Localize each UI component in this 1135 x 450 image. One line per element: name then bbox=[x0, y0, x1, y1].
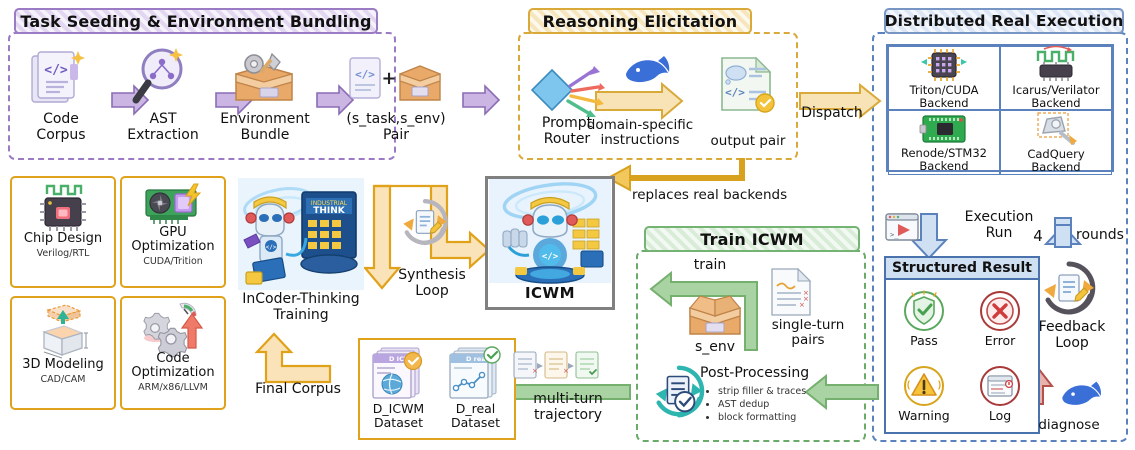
banner-reasoning: Reasoning Elicitation bbox=[528, 8, 752, 34]
domain-title-2: 3D Modeling bbox=[22, 358, 104, 372]
backend-cell-triton-cuda[interactable]: Triton/CUDA Backend bbox=[888, 46, 1000, 110]
icwm-label: ICWM bbox=[525, 284, 575, 302]
thought-code-document-icon: </> bbox=[716, 54, 778, 116]
final-corpus-arrow bbox=[257, 334, 330, 382]
seeding-step-1-label: AST Extraction bbox=[118, 112, 208, 143]
svg-text:×: × bbox=[799, 301, 805, 309]
backend-label-3: CadQuery Backend bbox=[1027, 148, 1084, 173]
synthesis-loop-label: Synthesis Loop bbox=[388, 268, 476, 299]
svg-text:</>: </> bbox=[355, 68, 375, 81]
waveform-chip-icon bbox=[1030, 47, 1082, 83]
domain-subtitle-2: CAD/CAM bbox=[41, 374, 86, 385]
backend-label-0: Triton/CUDA Backend bbox=[910, 84, 979, 109]
seeding-step-2-label: Environment Bundle bbox=[214, 112, 316, 143]
circle-cross-icon bbox=[977, 288, 1023, 332]
dataset-globe-icon: D ICWM bbox=[369, 344, 429, 400]
final-corpus-label: Final Corpus bbox=[246, 382, 350, 398]
backend-cell-icarus-verilator[interactable]: Icarus/Verilator Backend bbox=[1000, 46, 1112, 110]
result-item-pass[interactable]: Pass bbox=[886, 280, 962, 355]
backend-cell-cadquery[interactable]: CadQuery Backend bbox=[1000, 110, 1112, 174]
s-env-label: s_env bbox=[676, 340, 754, 356]
backend-label-1: Icarus/Verilator Backend bbox=[1012, 84, 1099, 109]
domain-card-code-optimization[interactable]: Code Optimization ARM/x86/LLVM bbox=[120, 296, 226, 410]
shield-check-icon bbox=[901, 288, 947, 332]
log-window-icon bbox=[977, 363, 1023, 407]
dispatch-label: Dispatch bbox=[800, 106, 864, 122]
replaces-backends-arrow bbox=[630, 158, 742, 178]
cube-extrude-icon bbox=[32, 302, 94, 358]
incoder-training-label: InCoder-Thinking Training bbox=[226, 292, 376, 323]
output-pair-label: output pair bbox=[700, 134, 796, 149]
dataset-title-1: D_real Dataset bbox=[451, 402, 500, 430]
svg-text:</>: </> bbox=[266, 244, 277, 251]
seeding-step-3-label: (s_task,s_env) Pair bbox=[336, 112, 456, 143]
svg-text:+: + bbox=[381, 68, 396, 89]
feedback-loop-label: Feedback Loop bbox=[1032, 320, 1112, 351]
robot-world-model-icon: </> bbox=[489, 179, 611, 283]
svg-text:THINK: THINK bbox=[313, 206, 346, 216]
result-label-warning: Warning bbox=[898, 408, 949, 423]
domain-subtitle-1: CUDA/Trition bbox=[143, 256, 203, 267]
dev-board-icon bbox=[919, 112, 969, 146]
dataset-chart-icon: D real bbox=[446, 344, 506, 400]
magnifier-graph-icon bbox=[128, 46, 194, 108]
post-bullet-0: strip filler & traces bbox=[718, 386, 848, 399]
chip-waveform-icon bbox=[35, 182, 91, 232]
code-file-plus-box-icon: </> + bbox=[348, 54, 444, 108]
gears-speed-icon bbox=[142, 302, 204, 352]
banner-train-icwm: Train ICWM bbox=[644, 226, 860, 252]
domain-subtitle-3: ARM/x86/LLVM bbox=[138, 382, 208, 393]
dataset-title-0: D_ICWM Dataset bbox=[373, 402, 424, 430]
code-document-icon: </> bbox=[26, 48, 92, 108]
train-label: train bbox=[666, 258, 754, 274]
gpu-chip-icon bbox=[921, 47, 967, 83]
single-turn-label: single-turn pairs bbox=[756, 318, 860, 348]
refresh-document-pencil-icon bbox=[1038, 258, 1100, 318]
diamond-router-icon bbox=[528, 62, 606, 118]
svg-text:×: × bbox=[532, 367, 538, 375]
post-bullet-1: AST dedup bbox=[718, 399, 848, 412]
post-processing-bullets: strip filler & traces AST dedup block fo… bbox=[708, 386, 848, 424]
dataset-box: D ICWM D_ICWM Dataset D real bbox=[358, 338, 516, 440]
warning-triangle-icon bbox=[901, 363, 947, 407]
banner-execution: Distributed Real Execution bbox=[884, 8, 1124, 34]
domain-subtitle-0: Verilog/RTL bbox=[37, 248, 90, 259]
domain-title-0: Chip Design bbox=[24, 232, 102, 246]
post-processing-title: Post-Processing bbox=[700, 366, 830, 382]
banner-task-seeding: Task Seeding & Environment Bundling bbox=[14, 8, 378, 34]
post-bullet-2: block formatting bbox=[718, 412, 848, 425]
replaces-backends-label: replaces real backends bbox=[632, 188, 812, 203]
dataset-item-icwm[interactable]: D ICWM D_ICWM Dataset bbox=[369, 344, 429, 430]
deepseek-whale-icon bbox=[620, 52, 676, 90]
svg-text:>_: >_ bbox=[890, 231, 899, 239]
domain-title-3: Code Optimization bbox=[131, 352, 214, 380]
open-box-icon bbox=[684, 292, 746, 338]
domain-card-3d-modeling[interactable]: 3D Modeling CAD/CAM bbox=[10, 296, 116, 410]
pipeline-diagram: Task Seeding & Environment Bundling </> … bbox=[0, 0, 1135, 450]
diagnose-label: diagnose bbox=[1026, 418, 1112, 433]
result-item-error[interactable]: Error bbox=[962, 280, 1038, 355]
icwm-box[interactable]: </> ICWM bbox=[485, 176, 615, 310]
structured-result-title: Structured Result bbox=[886, 258, 1038, 280]
diagnose-whale-icon bbox=[1056, 378, 1108, 412]
domain-title-1: GPU Optimization bbox=[131, 226, 214, 254]
marked-document-icon: ××× bbox=[768, 266, 814, 318]
dataset-item-real[interactable]: D real D_real Dataset bbox=[446, 344, 506, 430]
result-label-pass: Pass bbox=[910, 333, 938, 348]
graphics-card-icon bbox=[142, 182, 204, 226]
cad-part-icon bbox=[1031, 111, 1081, 147]
synthesis-refresh-icon bbox=[398, 196, 452, 248]
domain-card-chip-design[interactable]: Chip Design Verilog/RTL bbox=[10, 176, 116, 288]
backend-cell-renode-stm32[interactable]: Renode/STM32 Backend bbox=[888, 110, 1000, 174]
svg-text:</>: </> bbox=[44, 63, 68, 78]
multi-turn-label: multi-turn trajectory bbox=[516, 392, 620, 423]
structured-result-panel: Structured Result Pass bbox=[884, 256, 1040, 434]
result-label-error: Error bbox=[985, 333, 1015, 348]
svg-text:×: × bbox=[563, 367, 569, 375]
seeding-step-0-label: Code Corpus bbox=[16, 112, 106, 143]
three-documents-icon: × × bbox=[512, 348, 600, 382]
backend-label-2: Renode/STM32 Backend bbox=[901, 147, 987, 172]
domain-card-gpu-optimization[interactable]: GPU Optimization CUDA/Trition bbox=[120, 176, 226, 288]
svg-text:</>: </> bbox=[725, 86, 745, 99]
domain-instructions-label: domain-specific instructions bbox=[584, 118, 696, 148]
terminal-play-icon: >_ bbox=[884, 212, 920, 242]
result-item-warning[interactable]: Warning bbox=[886, 355, 962, 430]
result-label-log: Log bbox=[989, 408, 1011, 423]
rounds-count-label: 4 bbox=[1028, 228, 1048, 245]
robot-industrial-think-icon: INDUSTRIAL THINK </> bbox=[238, 178, 364, 290]
rounds-label: rounds bbox=[1076, 228, 1132, 244]
open-box-tools-icon bbox=[228, 48, 300, 108]
svg-text:</>: </> bbox=[542, 252, 559, 262]
backend-grid: Triton/CUDA Backend Icarus/Verilator Bac… bbox=[886, 44, 1114, 172]
